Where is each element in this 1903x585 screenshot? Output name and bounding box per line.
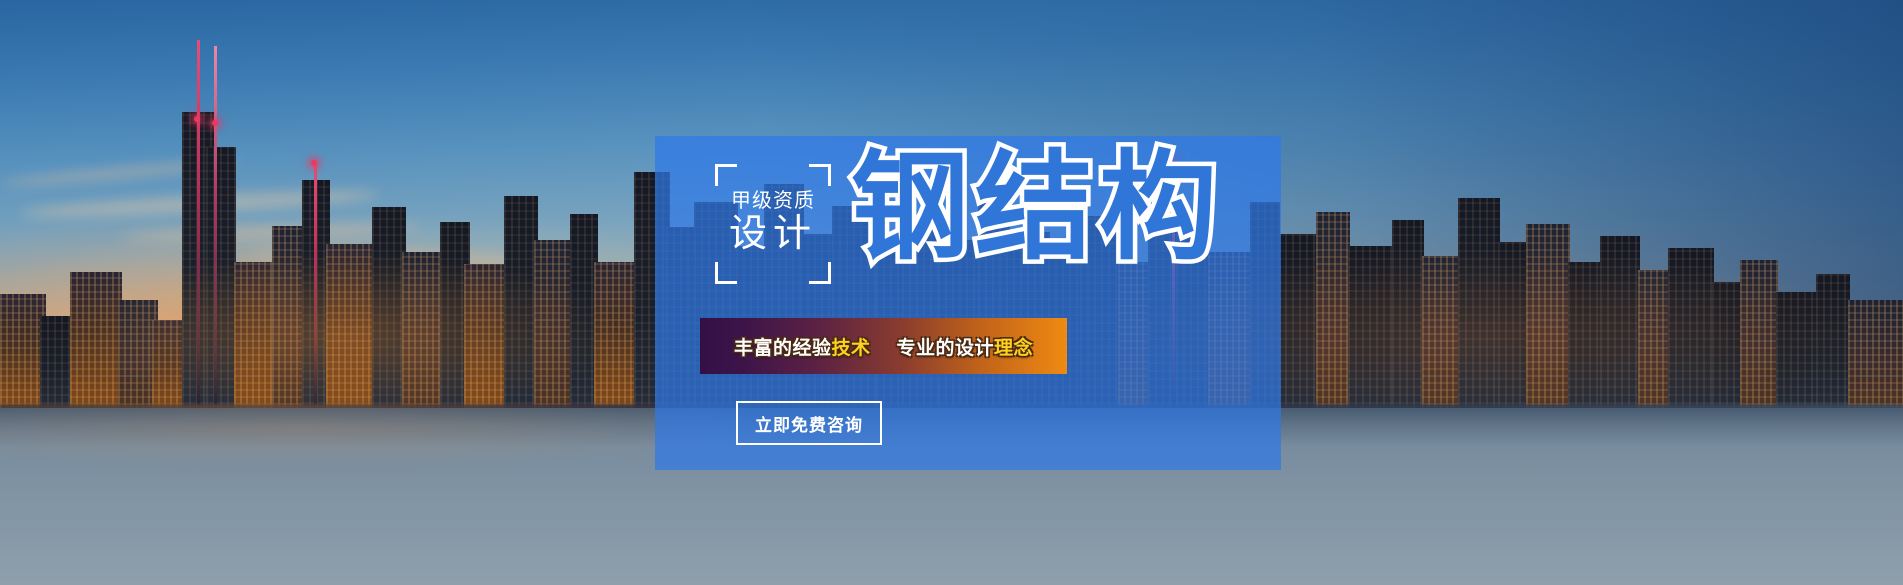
hero-banner: 甲级资质 设计 钢结构 丰富的经验技术专业的设计理念 立即免费咨询 bbox=[0, 0, 1903, 585]
feature-text-row: 丰富的经验技术专业的设计理念 bbox=[734, 333, 1033, 360]
feature-1-accent: 技术 bbox=[831, 337, 870, 359]
badge-corner-bottom-right bbox=[809, 262, 831, 284]
promo-overlay-panel: 甲级资质 设计 钢结构 丰富的经验技术专业的设计理念 立即免费咨询 bbox=[655, 136, 1281, 470]
feature-gradient-strip: 丰富的经验技术专业的设计理念 bbox=[700, 318, 1067, 374]
badge-line-1: 甲级资质 bbox=[715, 184, 831, 213]
badge-line-2: 设计 bbox=[715, 214, 831, 254]
feature-2-accent: 理念 bbox=[994, 337, 1033, 359]
headline-title: 钢结构 bbox=[851, 148, 1223, 266]
badge-corner-top-left bbox=[715, 164, 737, 186]
cta-button-label: 立即免费咨询 bbox=[755, 411, 863, 436]
badge-corner-top-right bbox=[809, 164, 831, 186]
badge-corner-bottom-left bbox=[715, 262, 737, 284]
feature-1-lead: 丰富的经验 bbox=[734, 337, 832, 359]
qualification-badge: 甲级资质 设计 bbox=[715, 164, 831, 284]
free-consultation-button[interactable]: 立即免费咨询 bbox=[736, 401, 882, 445]
feature-2-lead: 专业的设计 bbox=[897, 337, 995, 359]
